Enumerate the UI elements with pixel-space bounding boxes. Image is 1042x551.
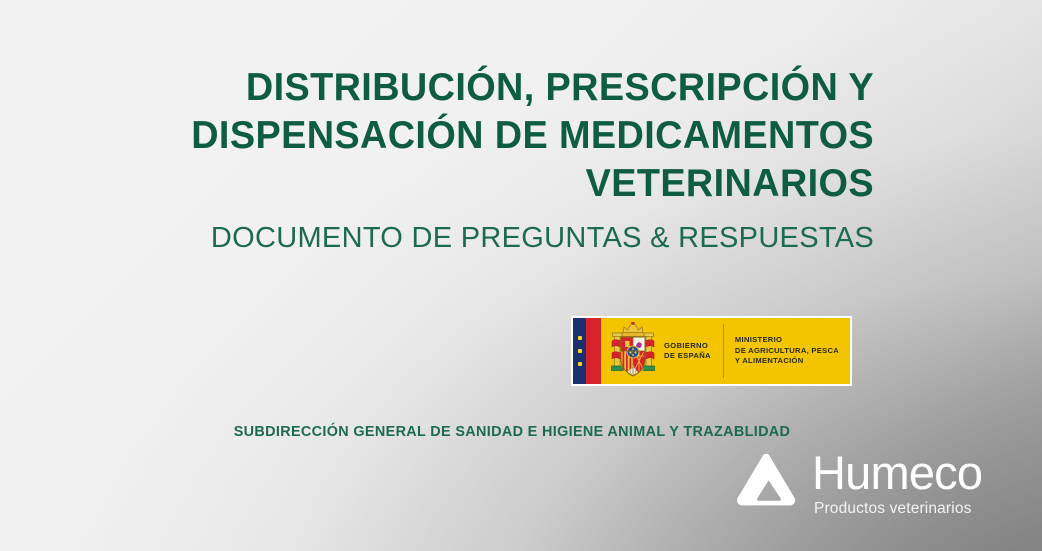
page-subtitle: DOCUMENTO DE PREGUNTAS & RESPUESTAS (60, 220, 874, 256)
spain-flag-yellow-field: GOBIERNO DE ESPAÑA MINISTERIO DE AGRICUL… (601, 318, 850, 384)
gobierno-de-espana-logo: GOBIERNO DE ESPAÑA MINISTERIO DE AGRICUL… (571, 316, 852, 386)
title-line-3: VETERINARIOS (84, 160, 874, 208)
humeco-wordmark: Humeco (812, 448, 982, 498)
logo-divider (723, 324, 724, 378)
gobierno-line-1: GOBIERNO (664, 341, 711, 351)
eu-star-icon (578, 336, 582, 340)
title-line-1: DISTRIBUCIÓN, PRESCRIPCIÓN Y (84, 64, 874, 112)
gobierno-de-espana-label: GOBIERNO DE ESPAÑA (664, 341, 711, 361)
page-title: DISTRIBUCIÓN, PRESCRIPCIÓN Y DISPENSACIÓ… (60, 64, 874, 208)
title-line-2: DISPENSACIÓN DE MEDICAMENTOS (84, 112, 874, 160)
eu-flag-bar (573, 318, 586, 384)
eu-star-icon (578, 362, 582, 366)
ministerio-line-2: DE AGRICULTURA, PESCA (735, 346, 839, 357)
humeco-tagline: Productos veterinarios (814, 499, 982, 518)
humeco-logo: Humeco Productos veterinarios (734, 448, 982, 518)
title-slide: DISTRIBUCIÓN, PRESCRIPCIÓN Y DISPENSACIÓ… (0, 0, 1042, 551)
ministerio-label: MINISTERIO DE AGRICULTURA, PESCA Y ALIME… (735, 335, 839, 367)
humeco-wordmark-block: Humeco Productos veterinarios (812, 448, 982, 518)
ministerio-line-1: MINISTERIO (735, 335, 839, 346)
coat-of-arms-icon (611, 322, 655, 380)
humeco-triangle-icon (734, 452, 798, 510)
spain-flag-red-bar (586, 318, 601, 384)
ministerio-line-3: Y ALIMENTACIÓN (735, 356, 839, 367)
department-line: SUBDIRECCIÓN GENERAL DE SANIDAD E HIGIEN… (0, 424, 1042, 440)
flag-bars (573, 318, 601, 384)
eu-star-icon (578, 349, 582, 353)
gobierno-line-2: DE ESPAÑA (664, 351, 711, 361)
